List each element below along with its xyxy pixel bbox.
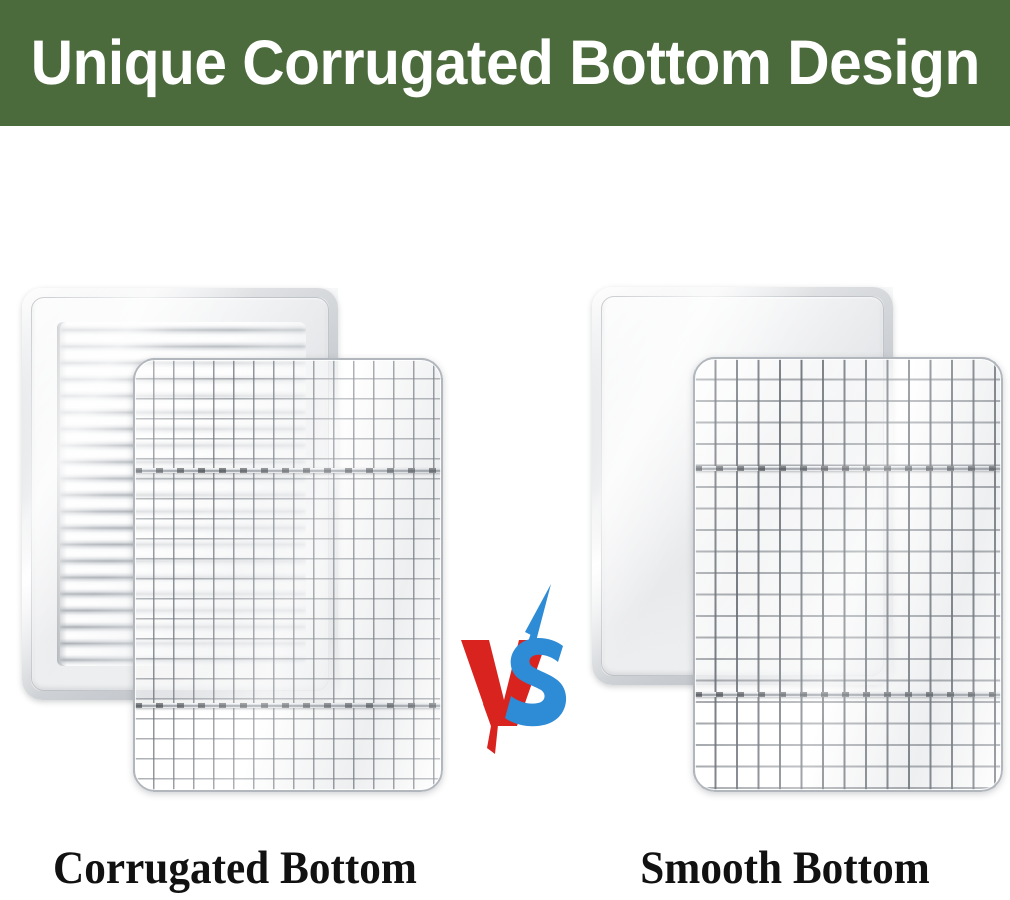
- rack-support-bar-upper: [135, 468, 441, 473]
- cooling-rack-coarse: [693, 357, 1003, 792]
- comparison-side-left: Corrugated Bottom: [0, 126, 470, 900]
- rack-support-bar-lower: [695, 692, 1001, 697]
- versus-badge: [455, 576, 575, 771]
- cooling-rack-fine: [133, 358, 443, 792]
- rack-wire-mesh-fine: [133, 358, 443, 792]
- page-title: Unique Corrugated Bottom Design: [30, 32, 979, 95]
- comparison-stage: Corrugated Bottom Smooth Bottom: [0, 126, 1010, 900]
- product-comparison-infographic: Unique Corrugated Bottom Design: [0, 0, 1010, 900]
- rack-support-bar-lower: [135, 703, 441, 708]
- rack-support-bar-upper: [695, 466, 1001, 471]
- comparison-side-right: Smooth Bottom: [560, 126, 1010, 900]
- caption-corrugated-bottom: Corrugated Bottom: [19, 845, 451, 892]
- rack-wire-mesh-coarse: [693, 357, 1003, 792]
- header-banner: Unique Corrugated Bottom Design: [0, 0, 1010, 126]
- caption-smooth-bottom: Smooth Bottom: [578, 845, 992, 892]
